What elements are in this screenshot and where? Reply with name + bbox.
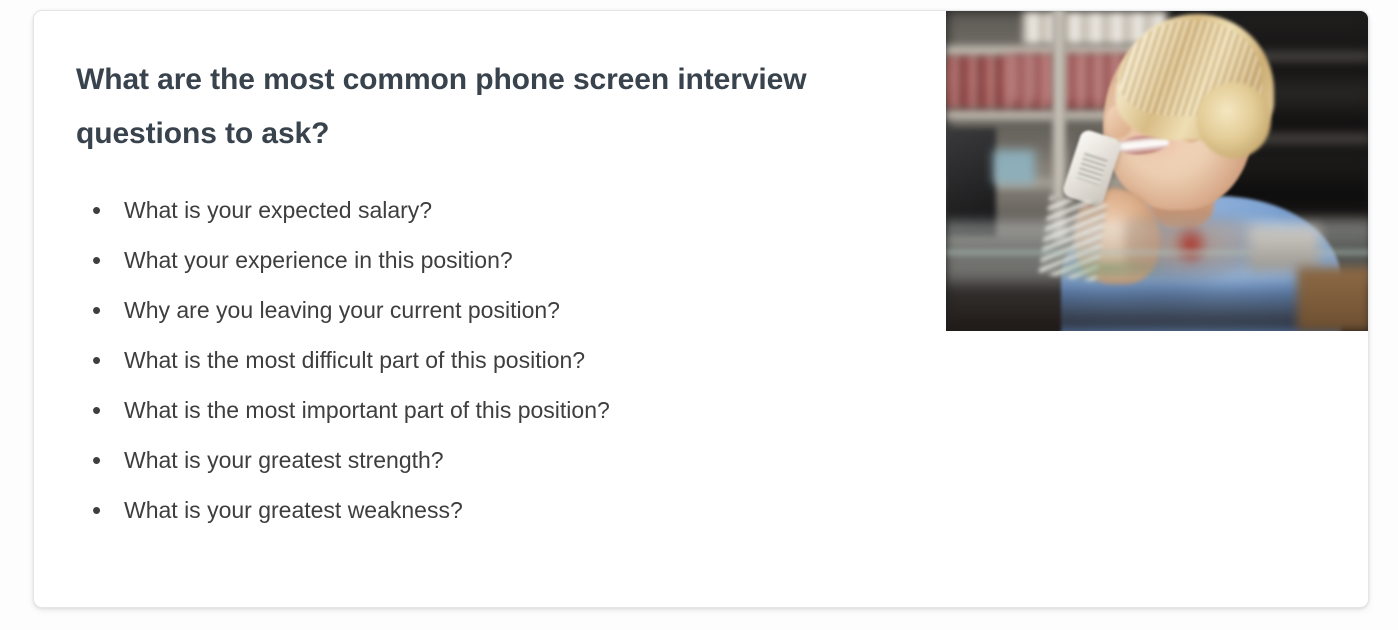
photo-brown-corner — [1297, 267, 1369, 331]
page-background: What are the most common phone screen in… — [0, 0, 1398, 630]
photo-reflection-red — [1173, 224, 1209, 266]
list-item-label: What is your greatest weakness? — [124, 497, 463, 523]
list-item-label: What is the most difficult part of this … — [124, 347, 585, 373]
content-card: What are the most common phone screen in… — [33, 10, 1369, 608]
list-item-label: What is the most important part of this … — [124, 397, 610, 423]
list-item-label: What is your expected salary? — [124, 197, 432, 223]
list-item: • What is the most difficult part of thi… — [76, 335, 936, 385]
interview-questions-list: • What is your expected salary? • What y… — [76, 185, 936, 535]
list-item: • What is your expected salary? — [76, 185, 936, 235]
list-item-label: What your experience in this position? — [124, 247, 513, 273]
pharmacist-phone-photo — [946, 10, 1369, 331]
page-title: What are the most common phone screen in… — [76, 53, 916, 161]
bullet-icon: • — [92, 385, 99, 435]
bullet-icon: • — [92, 335, 99, 385]
list-item: • What is the most important part of thi… — [76, 385, 936, 435]
list-item-label: What is your greatest strength? — [124, 447, 444, 473]
list-item: • What is your greatest weakness? — [76, 485, 936, 535]
list-item: • What is your greatest strength? — [76, 435, 936, 485]
list-item: • Why are you leaving your current posit… — [76, 285, 936, 335]
text-column: What are the most common phone screen in… — [76, 53, 936, 535]
photo-reflection-green — [1048, 258, 1168, 280]
bullet-icon: • — [92, 285, 99, 335]
photo-inner — [946, 10, 1369, 331]
list-item-label: Why are you leaving your current positio… — [124, 297, 560, 323]
photo-hair-bun — [1197, 82, 1271, 158]
bullet-icon: • — [92, 185, 99, 235]
bullet-icon: • — [92, 435, 99, 485]
bullet-icon: • — [92, 485, 99, 535]
bullet-icon: • — [92, 235, 99, 285]
list-item: • What your experience in this position? — [76, 235, 936, 285]
photo-gray-corner — [1249, 227, 1319, 271]
